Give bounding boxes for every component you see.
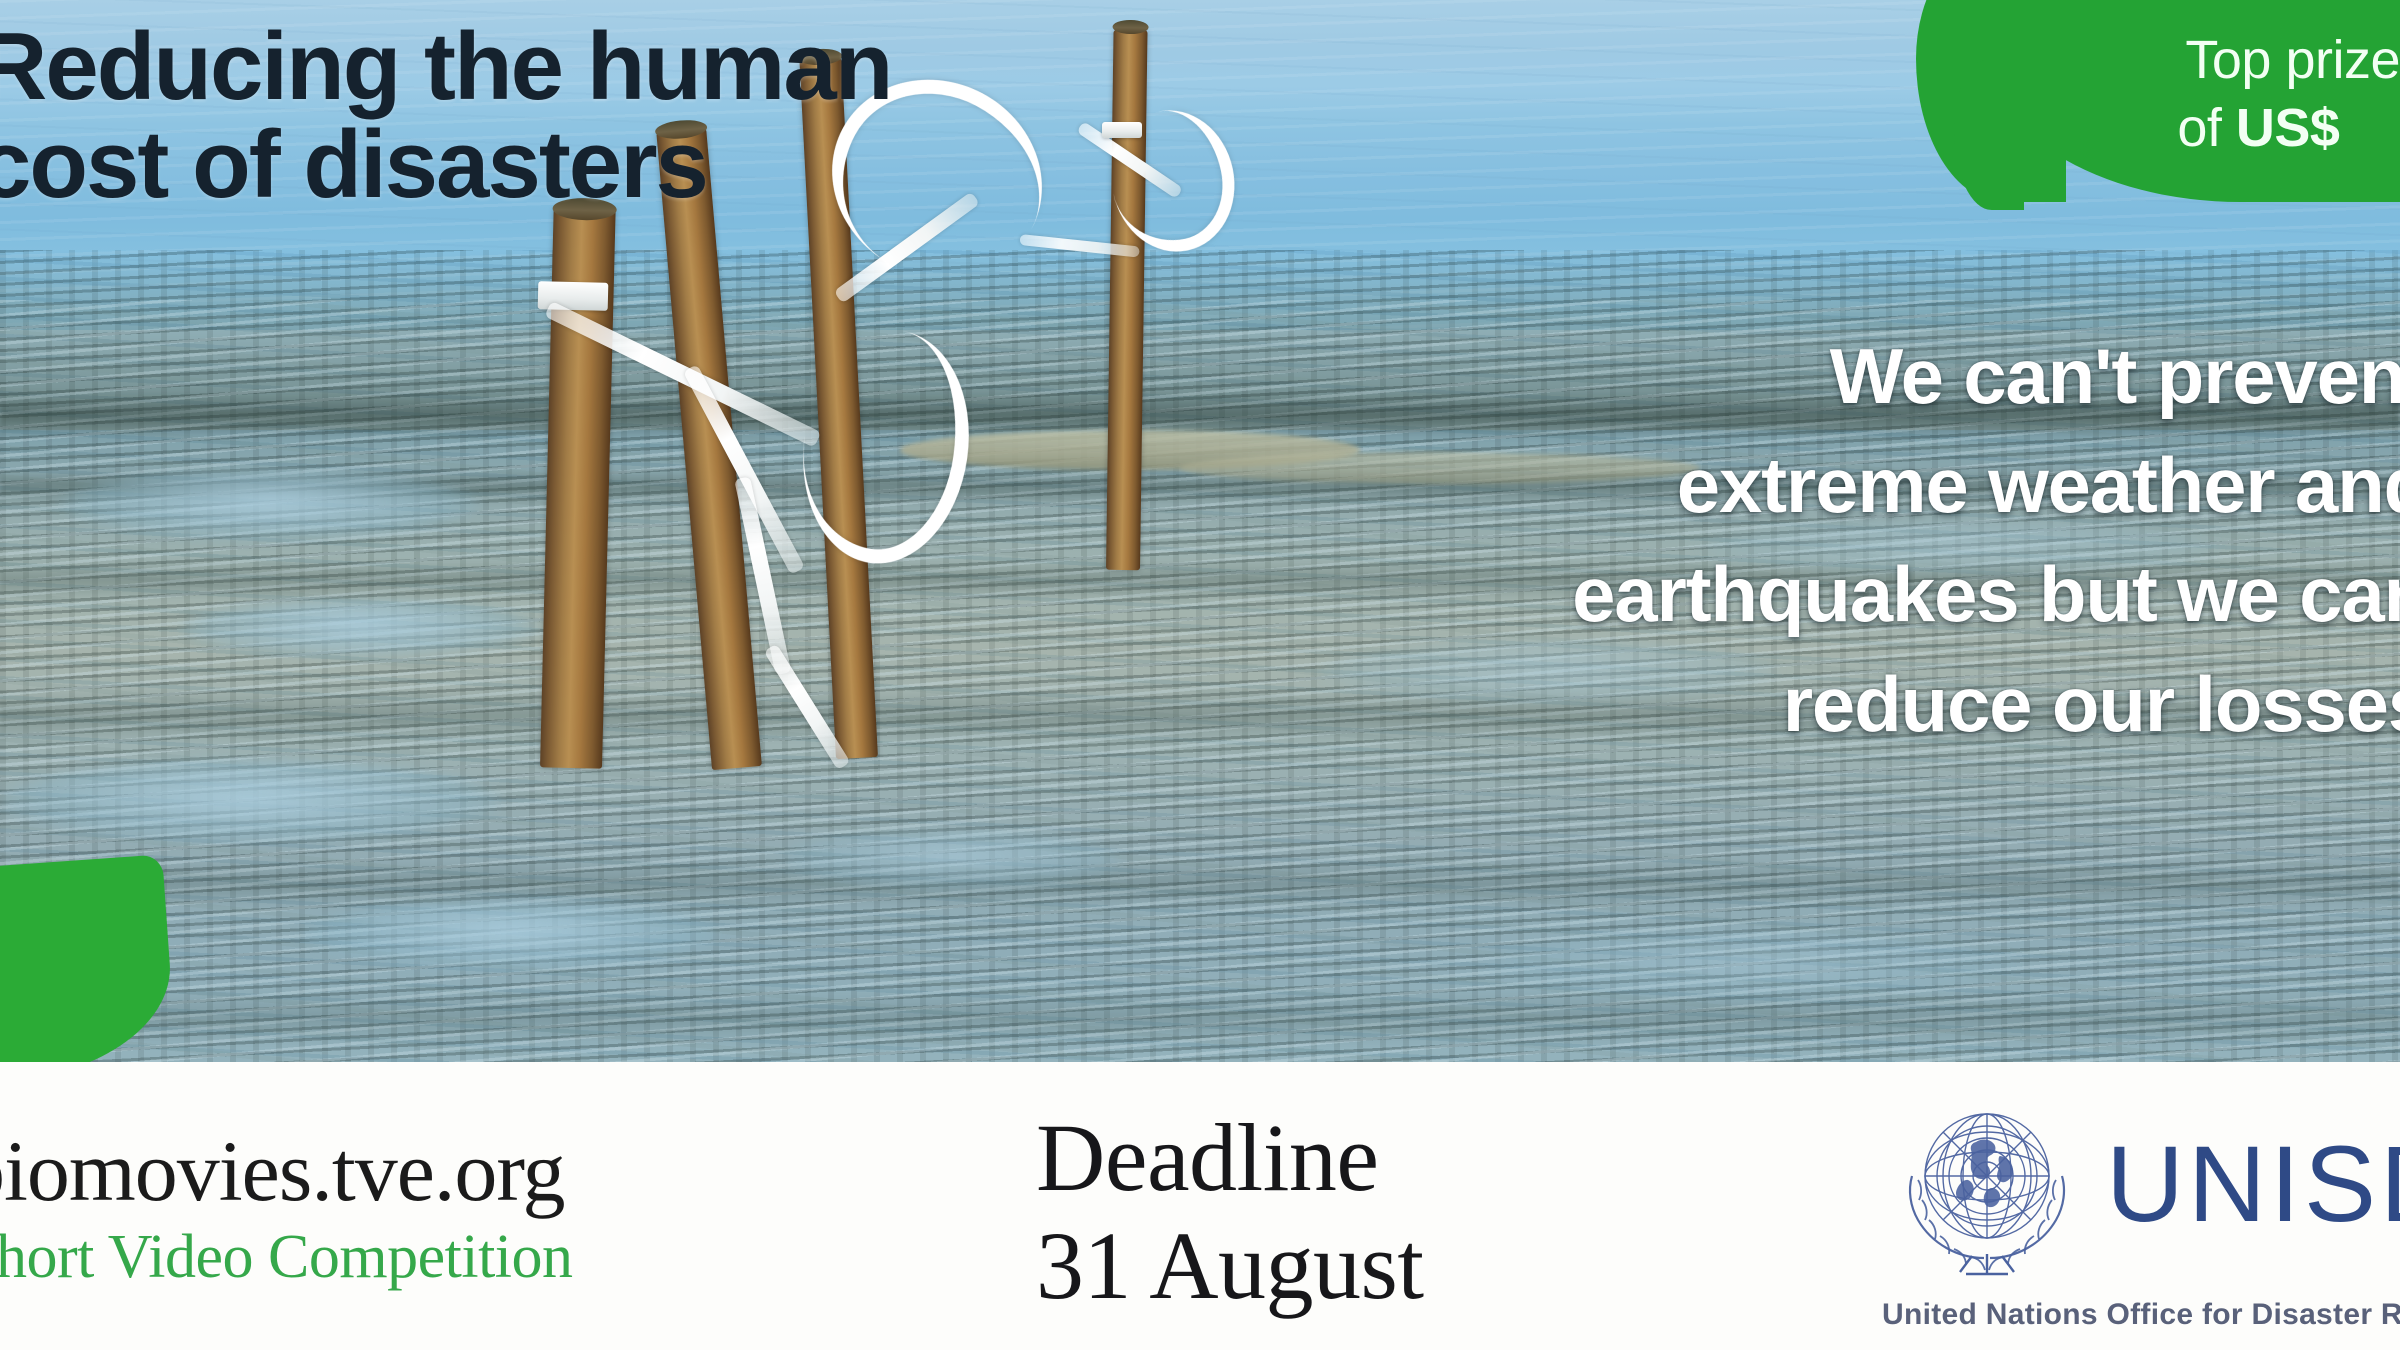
- un-emblem-icon: [1880, 1084, 2094, 1284]
- page-title: Reducing the human cost of disasters: [0, 18, 891, 214]
- prize-amount: US$: [2236, 98, 2340, 158]
- deadline-label: Deadline: [1036, 1104, 1424, 1212]
- quote-line-1: We can't prevent: [1572, 322, 2400, 431]
- deadline-date: 31 August: [1036, 1212, 1424, 1320]
- unisdr-logo-tagline: United Nations Office for Disaster Risk …: [1882, 1298, 2400, 1332]
- prize-line-2-prefix: of: [2177, 98, 2236, 158]
- quote-line-3: earthquakes but we can: [1572, 540, 2400, 649]
- unisdr-wordmark: UNISDR: [2106, 1130, 2400, 1238]
- brand-block: biomovies.tve.org Short Video Competitio…: [0, 1128, 573, 1288]
- poster-canvas: Top prize of US$ Reducing the human cost…: [0, 0, 2400, 1350]
- quote-line-4: reduce our losses: [1572, 650, 2400, 759]
- water-puddle: [300, 900, 720, 970]
- website-url[interactable]: biomovies.tve.org: [0, 1128, 573, 1214]
- headline-line-2: cost of disasters: [0, 116, 891, 214]
- competition-tagline: Short Video Competition: [0, 1226, 573, 1288]
- water-puddle: [60, 470, 480, 540]
- deadline-block: Deadline 31 August: [1036, 1104, 1424, 1319]
- headline-line-1: Reducing the human: [0, 13, 891, 120]
- quote-line-2: extreme weather and: [1572, 431, 2400, 540]
- water-puddle: [780, 830, 1120, 890]
- footer-bar: biomovies.tve.org Short Video Competitio…: [0, 1062, 2400, 1350]
- seaweed-band: [0, 860, 2400, 908]
- water-puddle: [180, 600, 540, 658]
- water-puddle: [1480, 930, 2020, 1000]
- water-puddle: [0, 760, 500, 844]
- unisdr-logo: UNISDR United Nations Office for Disaste…: [1880, 1084, 2400, 1334]
- campaign-quote: We can't prevent extreme weather and ear…: [1572, 322, 2400, 759]
- seaweed-band: [0, 990, 2400, 1046]
